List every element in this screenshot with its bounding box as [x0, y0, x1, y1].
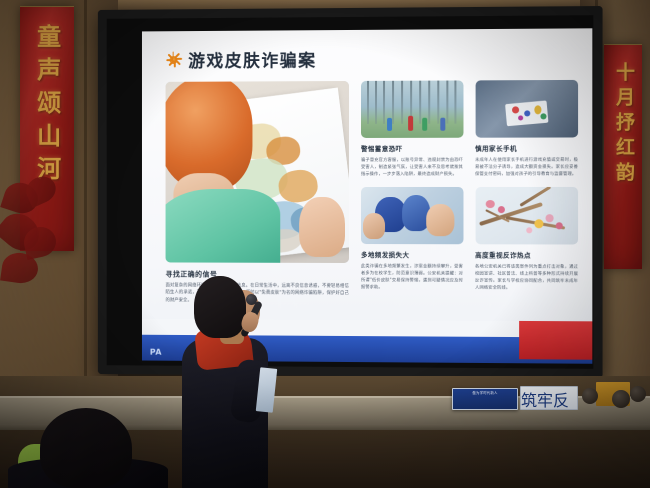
slide-title-row: 游戏皮肤诈骗案 — [166, 45, 579, 72]
left-banner-text: 童声颂山河 — [34, 24, 59, 189]
card-title: 高度重视反诈热点 — [475, 249, 578, 259]
right-calligraphy-banner: 十月抒红韵 — [604, 44, 642, 269]
conference-room-scene: 童声颂山河 十月抒红韵 — [0, 0, 650, 488]
hero-photo — [166, 81, 349, 263]
info-card: 警惕蓄意恐吓 骗子冒充官方客服，以账号异常、违规封禁为由恐吓受害人，制造紧张气氛… — [361, 80, 463, 177]
right-banner-text: 十月抒红韵 — [613, 62, 633, 187]
stage-sign-text: 做为学时代新人 — [453, 389, 517, 398]
card-body: 各地公安机关已将该类案件列为重点打击对象，通过校园宣讲、社区普法、线上科普等多种… — [475, 262, 578, 291]
blossom-branch-photo — [475, 187, 578, 245]
presenter-hair — [194, 276, 246, 338]
hero-hand — [299, 197, 345, 257]
sun-icon — [166, 52, 181, 67]
flower-decoration — [0, 175, 72, 290]
info-card: 多地频发损失大 此类诈骗在多地频繁发生，涉案金额持续攀升，受害者多为在校学生，防… — [361, 187, 463, 291]
hero-shirt — [166, 189, 281, 263]
slide-title: 游戏皮肤诈骗案 — [188, 46, 316, 72]
card-body: 未成年人在使用家长手机进行游戏充值或交易时，极易被不法分子诱导，造成大额资金损失… — [475, 156, 578, 178]
presenter-figure — [172, 276, 290, 488]
banner-rod-left — [20, 6, 74, 7]
stage-sign-board: 筑牢反诈防线 — [520, 386, 578, 410]
craft-photo — [475, 80, 578, 138]
stage-sign-board: 做为学时代新人 — [452, 388, 518, 410]
blue-hands-photo — [361, 187, 463, 244]
card-title: 慎用家长手机 — [475, 143, 578, 153]
card-body: 此类诈骗在多地频繁发生，涉案金额持续攀升，受害者多为在校学生，防范意识薄弱。公安… — [361, 262, 463, 291]
stage-prop — [582, 388, 598, 404]
wall-seam-left — [84, 0, 87, 430]
audience-head — [40, 408, 132, 488]
stage-sign-text: 筑牢反诈防线 — [521, 387, 577, 410]
presenter-handout — [256, 367, 278, 413]
info-card: 慎用家长手机 未成年人在使用家长手机进行游戏充值或交易时，极易被不法分子诱导，造… — [475, 80, 578, 178]
microphone-head — [246, 294, 257, 305]
footer-logo: PA — [150, 348, 162, 357]
banner-rod-right — [604, 44, 642, 45]
card-title: 多地频发损失大 — [361, 249, 463, 259]
stage-prop — [630, 386, 646, 402]
stage-prop — [612, 390, 630, 408]
forest-photo — [361, 80, 463, 138]
info-card: 高度重视反诈热点 各地公安机关已将该类案件列为重点打击对象，通过校园宣讲、社区普… — [475, 187, 578, 292]
footer-red-block — [519, 321, 592, 360]
card-title: 警惕蓄意恐吓 — [361, 143, 463, 153]
card-body: 骗子冒充官方客服，以账号异常、违规封禁为由恐吓受害人，制造紧张气氛，让受害人来不… — [361, 156, 463, 178]
